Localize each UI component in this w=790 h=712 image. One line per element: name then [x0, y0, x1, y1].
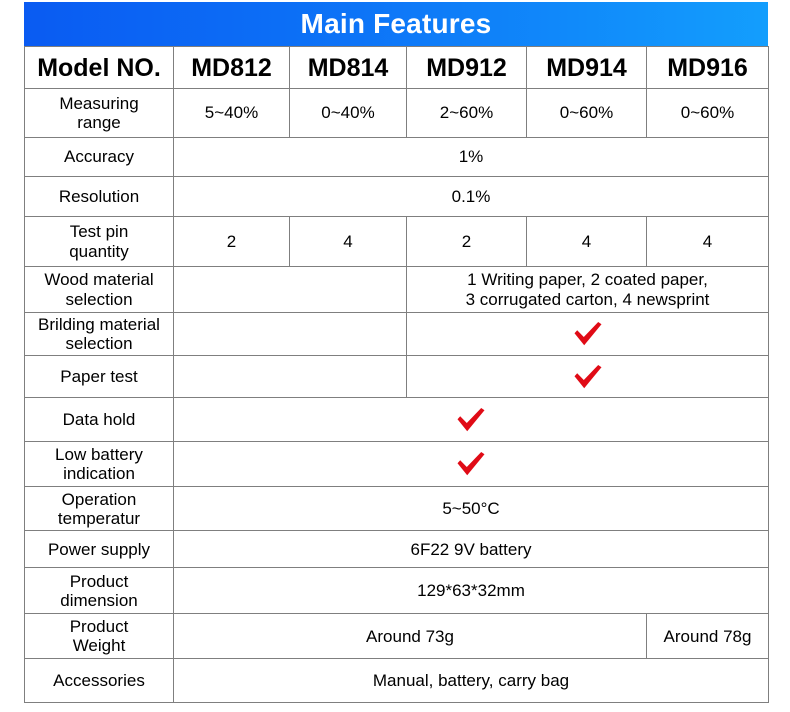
- row-label-data-hold: Data hold: [25, 398, 174, 442]
- cell-measuring-range-md914: 0~60%: [527, 89, 647, 138]
- checkmark-icon: [456, 407, 486, 433]
- row-label-accuracy: Accuracy: [25, 138, 174, 177]
- table-row: Paper test: [25, 356, 769, 398]
- cell-power-supply-value: 6F22 9V battery: [174, 531, 769, 568]
- row-label-accessories: Accessories: [25, 659, 174, 703]
- table-row: Test pin quantity 2 4 2 4 4: [25, 217, 769, 267]
- row-label-test-pin-quantity: Test pin quantity: [25, 217, 174, 267]
- spec-sheet: Main Features Model NO. MD812 MD814 MD91…: [0, 0, 790, 712]
- table-row: Resolution 0.1%: [25, 177, 769, 217]
- cell-measuring-range-md916: 0~60%: [647, 89, 769, 138]
- cell-wood-material-right: 1 Writing paper, 2 coated paper, 3 corru…: [407, 267, 769, 313]
- cell-operation-temperature-value: 5~50°C: [174, 487, 769, 531]
- cell-low-battery-value: [174, 442, 769, 487]
- column-header-md916: MD916: [647, 47, 769, 89]
- row-label-wood-material-selection: Wood material selection: [25, 267, 174, 313]
- cell-data-hold-value: [174, 398, 769, 442]
- checkmark-icon: [456, 451, 486, 477]
- cell-product-weight-right: Around 78g: [647, 614, 769, 659]
- cell-paper-test-right: [407, 356, 769, 398]
- cell-measuring-range-md814: 0~40%: [290, 89, 407, 138]
- table-header-row: Model NO. MD812 MD814 MD912 MD914 MD916: [25, 47, 769, 89]
- cell-product-dimension-value: 129*63*32mm: [174, 568, 769, 614]
- cell-brilding-material-right: [407, 313, 769, 356]
- cell-resolution-value: 0.1%: [174, 177, 769, 217]
- row-label-measuring-range: Measuring range: [25, 89, 174, 138]
- cell-brilding-material-left: [174, 313, 407, 356]
- page-title: Main Features: [301, 10, 492, 38]
- table-row: Accessories Manual, battery, carry bag: [25, 659, 769, 703]
- table-row: Wood material selection 1 Writing paper,…: [25, 267, 769, 313]
- column-header-model-no: Model NO.: [25, 47, 174, 89]
- cell-test-pin-md916: 4: [647, 217, 769, 267]
- table-row: Brilding material selection: [25, 313, 769, 356]
- row-label-brilding-material-selection: Brilding material selection: [25, 313, 174, 356]
- table-row: Data hold: [25, 398, 769, 442]
- column-header-md812: MD812: [174, 47, 290, 89]
- cell-measuring-range-md912: 2~60%: [407, 89, 527, 138]
- column-header-md914: MD914: [527, 47, 647, 89]
- cell-test-pin-md812: 2: [174, 217, 290, 267]
- table-row: Product Weight Around 73g Around 78g: [25, 614, 769, 659]
- row-label-power-supply: Power supply: [25, 531, 174, 568]
- row-label-product-weight: Product Weight: [25, 614, 174, 659]
- row-label-low-battery-indication: Low battery indication: [25, 442, 174, 487]
- cell-test-pin-md912: 2: [407, 217, 527, 267]
- row-label-operation-temperature: Operation temperatur: [25, 487, 174, 531]
- row-label-paper-test: Paper test: [25, 356, 174, 398]
- table-row: Power supply 6F22 9V battery: [25, 531, 769, 568]
- cell-test-pin-md914: 4: [527, 217, 647, 267]
- table-row: Low battery indication: [25, 442, 769, 487]
- specifications-table: Model NO. MD812 MD814 MD912 MD914 MD916 …: [24, 46, 769, 703]
- table-row: Measuring range 5~40% 0~40% 2~60% 0~60% …: [25, 89, 769, 138]
- cell-measuring-range-md812: 5~40%: [174, 89, 290, 138]
- cell-accessories-value: Manual, battery, carry bag: [174, 659, 769, 703]
- checkmark-icon: [573, 321, 603, 347]
- cell-paper-test-left: [174, 356, 407, 398]
- row-label-product-dimension: Product dimension: [25, 568, 174, 614]
- checkmark-icon: [573, 364, 603, 390]
- table-row: Accuracy 1%: [25, 138, 769, 177]
- cell-test-pin-md814: 4: [290, 217, 407, 267]
- main-features-banner: Main Features: [24, 2, 768, 46]
- column-header-md814: MD814: [290, 47, 407, 89]
- column-header-md912: MD912: [407, 47, 527, 89]
- table-row: Product dimension 129*63*32mm: [25, 568, 769, 614]
- row-label-resolution: Resolution: [25, 177, 174, 217]
- cell-product-weight-left: Around 73g: [174, 614, 647, 659]
- table-row: Operation temperatur 5~50°C: [25, 487, 769, 531]
- cell-accuracy-value: 1%: [174, 138, 769, 177]
- cell-wood-material-left: [174, 267, 407, 313]
